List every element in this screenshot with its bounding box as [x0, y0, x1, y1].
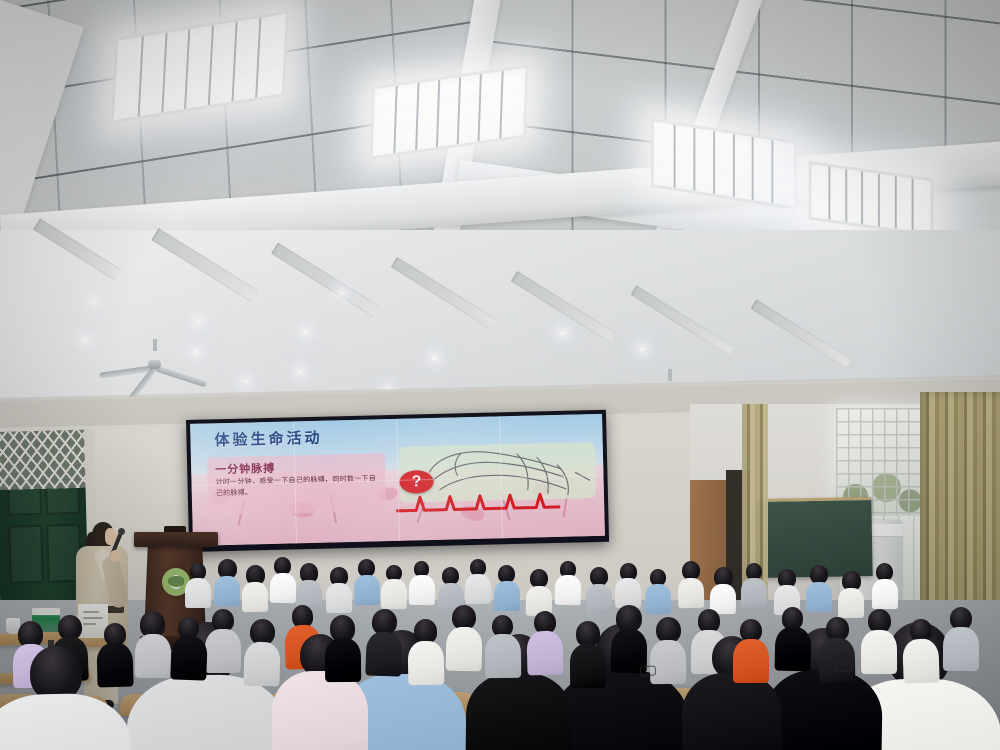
student-body: [0, 692, 132, 750]
student-body: [733, 639, 769, 683]
student-body: [645, 584, 671, 614]
student-body: [465, 573, 492, 604]
recessed-downlight: [244, 380, 248, 383]
door-grille-window: [0, 430, 89, 490]
louver-fin: [772, 140, 774, 203]
student-body: [861, 630, 897, 674]
student-body: [838, 588, 864, 618]
student-body: [682, 672, 783, 750]
louver-fin: [878, 174, 880, 227]
recessed-downlight: [92, 300, 96, 303]
led-video-wall[interactable]: 一分钟脉搏 计时一分钟，感受一下自己的脉搏，同时数一下自己的脉搏。 体验生命活动…: [186, 410, 609, 552]
student-body: [353, 575, 379, 605]
student-body: [205, 629, 241, 673]
recessed-downlight: [432, 356, 437, 360]
student-body: [943, 627, 979, 671]
student-body: [272, 671, 368, 750]
student-body: [446, 627, 483, 672]
student-body: [871, 579, 897, 609]
student-body: [819, 637, 856, 682]
student-body: [465, 672, 572, 750]
student-body: [570, 643, 606, 687]
student-body: [774, 626, 811, 671]
fan-rod: [668, 369, 672, 381]
student-body: [484, 634, 521, 678]
louver-fin: [674, 125, 676, 188]
recessed-downlight: [196, 320, 200, 323]
student-body: [902, 638, 939, 683]
student-body: [407, 640, 444, 685]
recessed-downlight: [298, 370, 302, 373]
recessed-downlight: [304, 330, 308, 333]
classroom-lecture-photo: 一分钟脉搏 计时一分钟，感受一下自己的脉搏，同时数一下自己的脉搏。 体验生命活动…: [0, 0, 1000, 750]
student-body: [380, 579, 407, 609]
student-body: [242, 582, 268, 612]
louver-fin: [713, 131, 715, 194]
student-body: [96, 642, 133, 687]
louver-fin: [752, 137, 754, 200]
student-body: [134, 634, 170, 678]
louver-fin: [895, 176, 897, 229]
ceiling-fan-left: [95, 348, 215, 382]
recessed-downlight: [340, 292, 343, 294]
student-body: [678, 577, 705, 608]
recessed-downlight: [640, 348, 645, 351]
fan-rod: [153, 339, 157, 351]
student-glasses: [640, 665, 657, 677]
student-body: [214, 576, 240, 606]
student-body: [409, 575, 435, 605]
microphone-head: [118, 528, 125, 535]
student-body: [170, 636, 208, 681]
student-body: [326, 583, 352, 613]
student-glasses: [836, 661, 853, 673]
student-body: [806, 582, 832, 612]
student-body: [366, 631, 404, 676]
student-body: [324, 638, 360, 682]
student-body: [526, 631, 563, 676]
student-body: [244, 641, 281, 686]
presentation-slide: 一分钟脉搏 计时一分钟，感受一下自己的脉搏，同时数一下自己的脉搏。 体验生命活动…: [190, 414, 605, 546]
louver-fin: [911, 178, 913, 231]
recessed-downlight: [560, 332, 565, 335]
student-body: [269, 573, 295, 603]
screen-glare: [190, 414, 605, 546]
student-body: [650, 640, 686, 684]
fan-hub: [148, 360, 161, 369]
louver-fin: [732, 134, 734, 197]
student-body: [615, 578, 641, 608]
recessed-downlight: [82, 338, 87, 341]
louver-fin: [861, 171, 863, 224]
louver-fin: [693, 128, 695, 191]
student-body: [554, 575, 581, 606]
student-body: [185, 578, 211, 608]
student-body: [586, 583, 613, 614]
louver-fin: [828, 167, 830, 220]
student-body: [493, 581, 519, 611]
louver-fin: [845, 169, 847, 222]
student-body: [741, 578, 767, 608]
